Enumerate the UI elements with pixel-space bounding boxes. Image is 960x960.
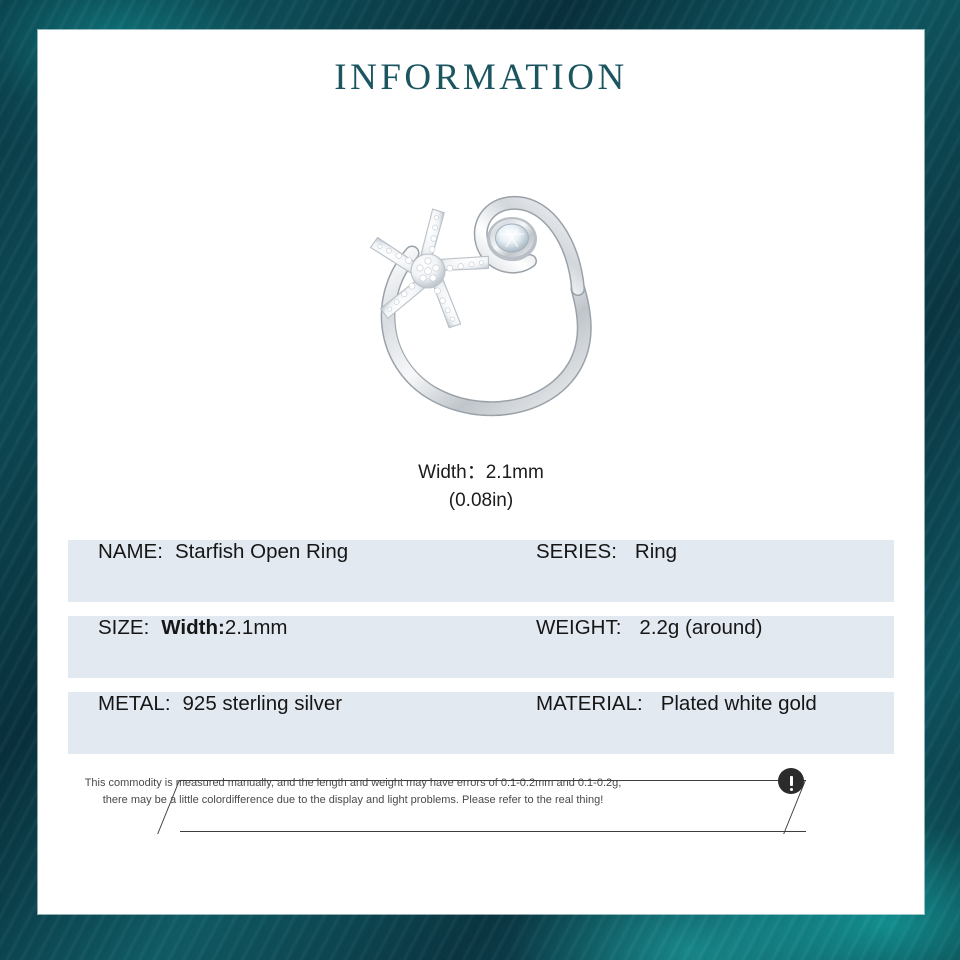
page-frame: INFORMATION [0,0,960,960]
dimension-inch: (0.08in) [38,487,924,515]
spec-value-weight: 2.2g (around) [639,616,762,640]
spec-value-size-label: Width: [161,616,225,639]
spec-value-series: Ring [635,540,677,564]
disclaimer-area: This commodity is measured manually, and… [38,768,924,858]
spec-cell-size: SIZE: Width:2.1mm [68,616,512,678]
spec-cell-metal: METAL: 925 sterling silver [68,692,512,754]
spec-value-name: Starfish Open Ring [175,540,348,564]
spec-key-metal: METAL: [98,692,171,716]
disclaimer-line-2: there may be a little colordifference du… [58,792,648,809]
spec-key-weight: WEIGHT: [536,616,621,640]
exclamation-glyph [790,776,793,786]
product-image-area [38,121,924,451]
spec-value-size-number: 2.1mm [225,616,288,639]
exclamation-icon [778,768,804,794]
spec-value-metal: 925 sterling silver [183,692,343,716]
disclaimer-line-1: This commodity is measured manually, and… [58,775,648,792]
spec-key-size: SIZE: [98,616,149,640]
specification-table: NAME: Starfish Open Ring SERIES: Ring SI… [68,540,894,754]
table-row: SIZE: Width:2.1mm WEIGHT: 2.2g (around) [68,616,894,678]
spec-cell-name: NAME: Starfish Open Ring [68,540,512,602]
dimension-caption: Width：2.1mm (0.08in) [38,459,924,514]
spec-cell-material: MATERIAL: Plated white gold [512,692,894,754]
spec-cell-weight: WEIGHT: 2.2g (around) [512,616,894,678]
dimension-mm: Width：2.1mm [418,462,544,483]
information-card: INFORMATION [38,30,924,914]
spec-value-size: Width:2.1mm [161,616,287,640]
product-ring-image [316,121,646,451]
table-row: NAME: Starfish Open Ring SERIES: Ring [68,540,894,602]
spec-value-material: Plated white gold [661,692,817,716]
table-row: METAL: 925 sterling silver MATERIAL: Pla… [68,692,894,754]
ring-illustration [316,121,646,451]
disclaimer-text: This commodity is measured manually, and… [58,775,648,809]
page-title: INFORMATION [38,56,924,99]
spec-key-name: NAME: [98,540,163,564]
spec-key-series: SERIES: [536,540,617,564]
spec-cell-series: SERIES: Ring [512,540,894,602]
spec-key-material: MATERIAL: [536,692,643,716]
